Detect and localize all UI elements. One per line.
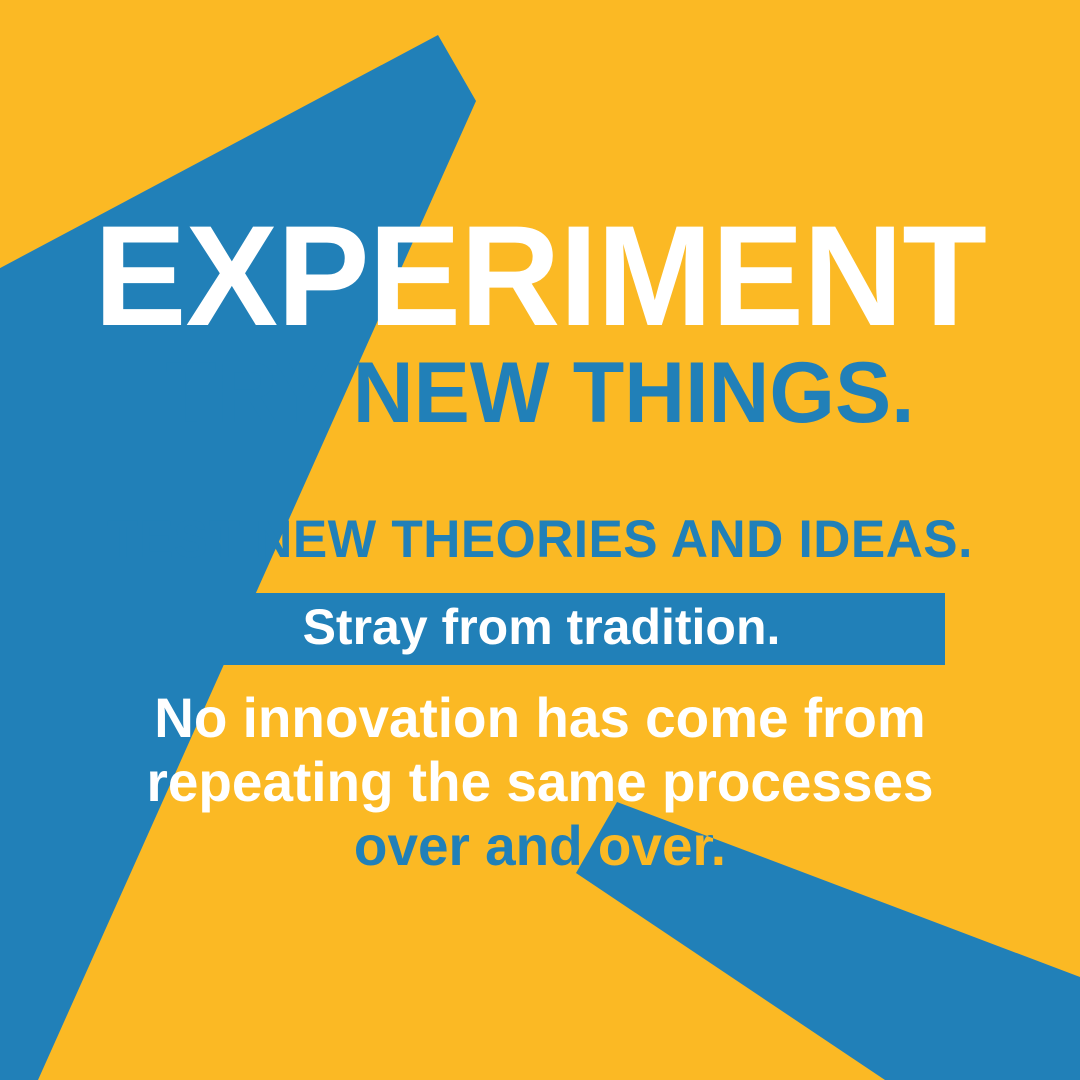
paragraph-line-2: repeating the same processes: [11, 750, 1069, 814]
highlight-bar: Stray from tradition.: [138, 593, 945, 665]
subtitle: TRY NEW THINGS.: [11, 350, 1069, 436]
page-title: EXPERIMENT: [16, 205, 1064, 348]
highlight-bar-text: Stray from tradition.: [303, 602, 781, 652]
poster-canvas: EXPERIMENT TRY NEW THINGS. TEST NEW THEO…: [0, 0, 1080, 1080]
paragraph-line-3: over and over.: [11, 814, 1069, 878]
tertiary-heading: TEST NEW THEORIES AND IDEAS.: [16, 513, 1064, 566]
paragraph-line-1: No innovation has come from: [11, 686, 1069, 750]
poster-content: EXPERIMENT TRY NEW THINGS. TEST NEW THEO…: [0, 0, 1080, 1080]
body-paragraph: No innovation has come from repeating th…: [11, 686, 1069, 878]
